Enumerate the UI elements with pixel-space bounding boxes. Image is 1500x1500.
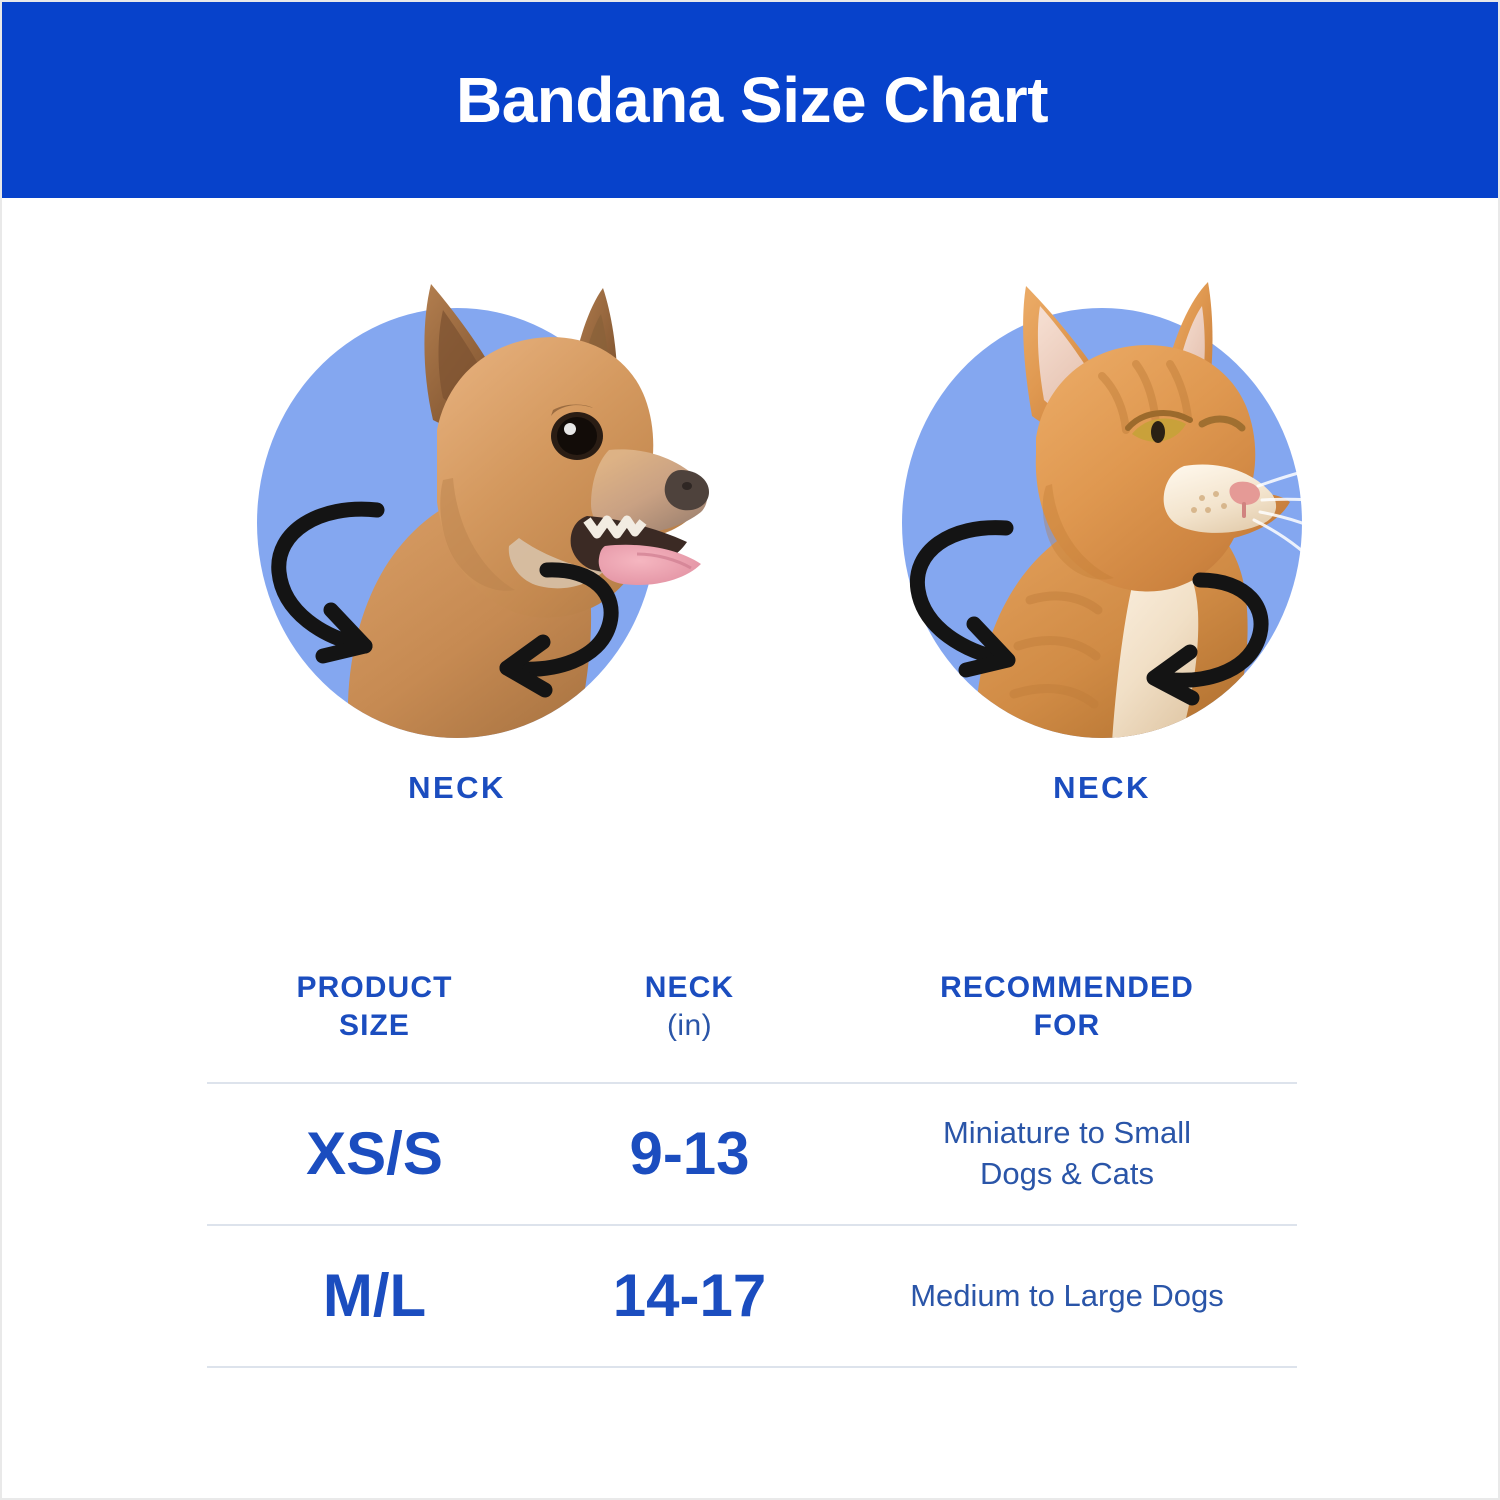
dog-graphic <box>257 198 717 758</box>
cell-recommended: Medium to Large Dogs <box>837 1276 1297 1317</box>
dog-illustration <box>257 198 717 678</box>
cat-neck-label: NECK <box>902 770 1302 806</box>
page-header: Bandana Size Chart <box>2 2 1500 198</box>
cell-product-size: M/L <box>207 1266 542 1326</box>
column-header-recommended: RECOMMENDED FOR <box>837 969 1297 1046</box>
table-header-row: PRODUCT SIZE NECK (in) RECOMMENDED FOR <box>207 932 1297 1082</box>
value-recommended-line2: Dogs & Cats <box>980 1156 1154 1191</box>
cell-neck: 14-17 <box>542 1266 837 1326</box>
table-row: XS/S 9-13 Miniature to Small Dogs & Cats <box>207 1084 1297 1224</box>
column-header-product-size-line2: SIZE <box>339 1009 410 1042</box>
table-divider-bottom <box>207 1366 1297 1368</box>
column-header-neck: NECK (in) <box>542 969 837 1046</box>
column-header-product-size: PRODUCT SIZE <box>207 969 542 1046</box>
column-header-neck-line1: NECK <box>645 971 734 1004</box>
size-table: PRODUCT SIZE NECK (in) RECOMMENDED FOR <box>207 932 1297 1368</box>
value-neck: 9-13 <box>542 1124 837 1184</box>
cat-illustration <box>902 198 1362 678</box>
table-row: M/L 14-17 Medium to Large Dogs <box>207 1226 1297 1366</box>
dog-measure-arrow-left <box>279 509 377 656</box>
figure-dog: NECK <box>257 198 817 858</box>
value-neck: 14-17 <box>542 1266 837 1326</box>
figure-cat: NECK <box>902 198 1462 858</box>
column-header-product-size-line1: PRODUCT <box>296 971 452 1004</box>
column-header-recommended-line2: FOR <box>1034 1009 1101 1042</box>
value-product-size: XS/S <box>207 1124 542 1184</box>
value-recommended-line1: Miniature to Small <box>943 1115 1191 1150</box>
cell-neck: 9-13 <box>542 1124 837 1184</box>
column-header-recommended-line1: RECOMMENDED <box>940 971 1194 1004</box>
cell-recommended: Miniature to Small Dogs & Cats <box>837 1113 1297 1195</box>
column-header-neck-units: (in) <box>542 1007 837 1045</box>
cat-graphic <box>902 198 1362 758</box>
value-recommended-line1: Medium to Large Dogs <box>910 1278 1224 1313</box>
cell-product-size: XS/S <box>207 1124 542 1184</box>
size-chart-page: Bandana Size Chart <box>0 0 1500 1500</box>
value-product-size: M/L <box>207 1266 542 1326</box>
measurement-illustrations: NECK <box>2 198 1500 858</box>
dog-neck-label: NECK <box>257 770 657 806</box>
page-title: Bandana Size Chart <box>456 68 1048 132</box>
cat-measure-arrow-left <box>917 528 1008 670</box>
